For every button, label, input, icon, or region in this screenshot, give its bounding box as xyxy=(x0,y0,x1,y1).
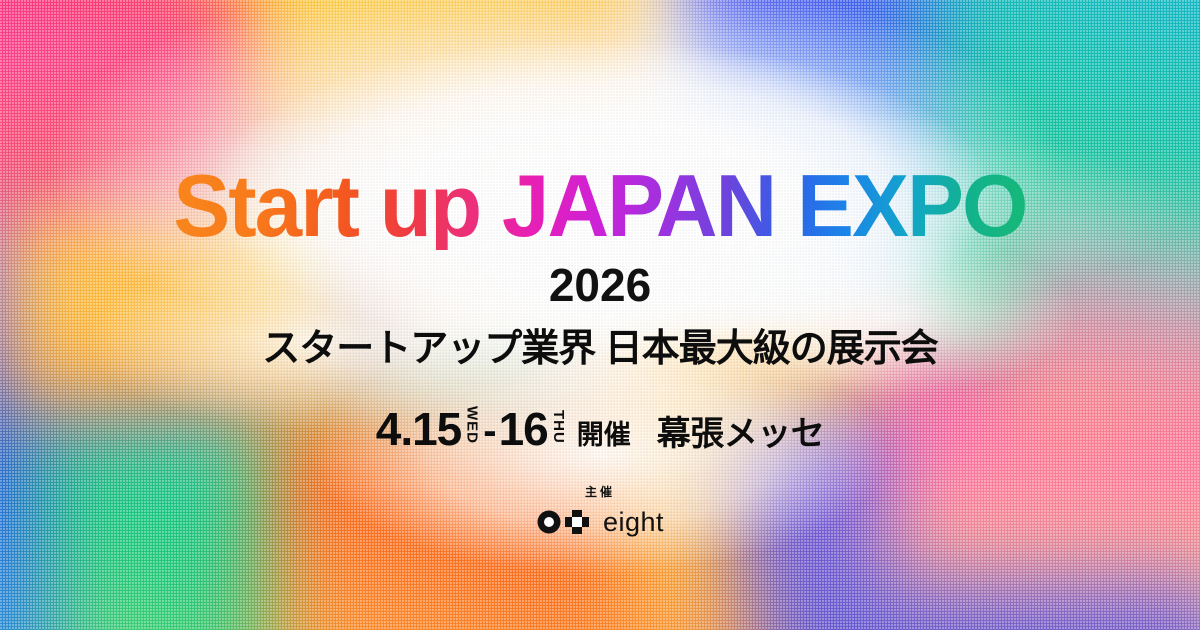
date-held-label: 開催 xyxy=(577,422,631,449)
host-logo: eight xyxy=(536,509,664,536)
event-dateline: 4.15 WED - 16 THU 開催 幕張メッセ xyxy=(376,408,825,452)
date-start-day: 4.15 xyxy=(376,408,462,452)
banner-content: Start up JAPAN EXPO 2026 スタートアップ業界 日本最大級… xyxy=(0,0,1200,630)
eight-logo-icon xyxy=(536,509,592,535)
event-banner: Start up JAPAN EXPO 2026 スタートアップ業界 日本最大級… xyxy=(0,0,1200,630)
event-venue: 幕張メッセ xyxy=(657,417,825,451)
date-end-day: 16 xyxy=(499,408,548,452)
date-range-dash: - xyxy=(483,412,496,450)
date-start-dow: WED xyxy=(464,406,479,444)
host-name: eight xyxy=(603,509,664,536)
date-end-dow: THU xyxy=(551,410,566,444)
event-year: 2026 xyxy=(549,262,651,308)
event-title: Start up JAPAN EXPO xyxy=(173,162,1026,250)
host-section: 主催 eight xyxy=(536,486,664,536)
host-label: 主催 xyxy=(585,486,615,498)
event-subtitle: スタートアップ業界 日本最大級の展示会 xyxy=(262,330,938,368)
